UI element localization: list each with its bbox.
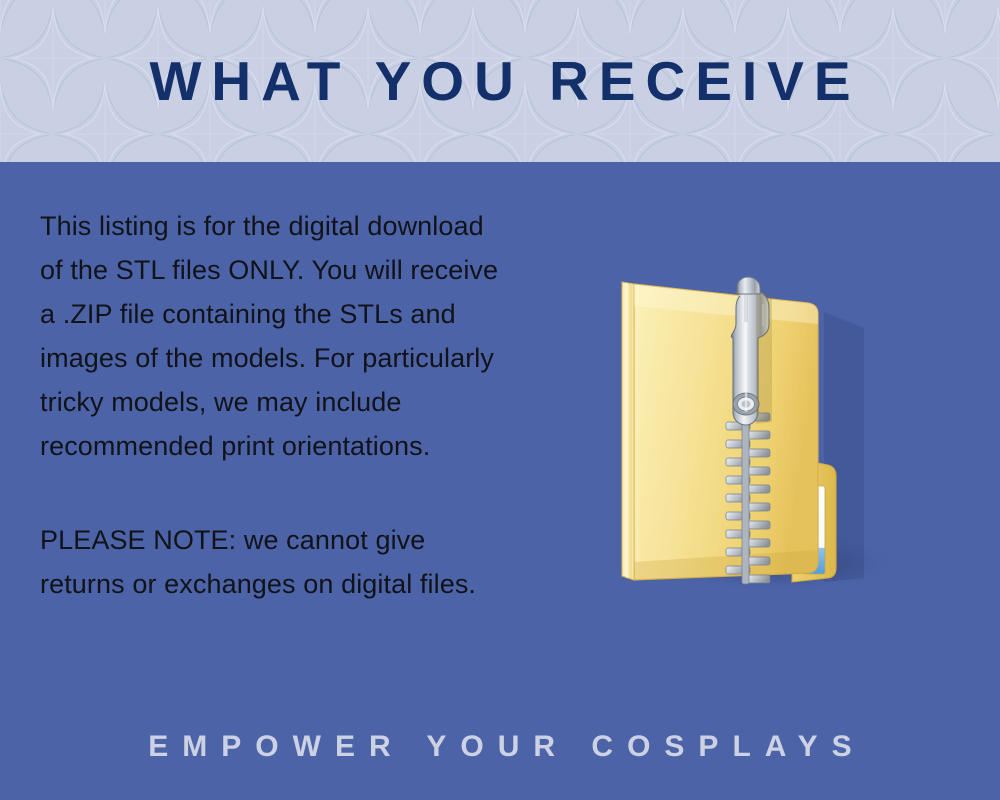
page-title: WHAT YOU RECEIVE xyxy=(0,0,1000,162)
header-band: WHAT YOU RECEIVE xyxy=(0,0,1000,162)
folder-spine xyxy=(622,282,634,580)
zip-folder-icon xyxy=(596,262,896,592)
description-paragraph: This listing is for the digital download… xyxy=(40,204,510,468)
please-note-paragraph: PLEASE NOTE: we cannot give returns or e… xyxy=(40,518,510,606)
footer-tagline: EMPOWER YOUR COSPLAYS xyxy=(0,730,1000,764)
body-copy: This listing is for the digital download… xyxy=(40,204,510,606)
promo-graphic: WHAT YOU RECEIVE This listing is for the… xyxy=(0,0,1000,800)
slider-contact-shadow xyxy=(756,292,772,424)
zipper-top-stop xyxy=(737,277,760,294)
